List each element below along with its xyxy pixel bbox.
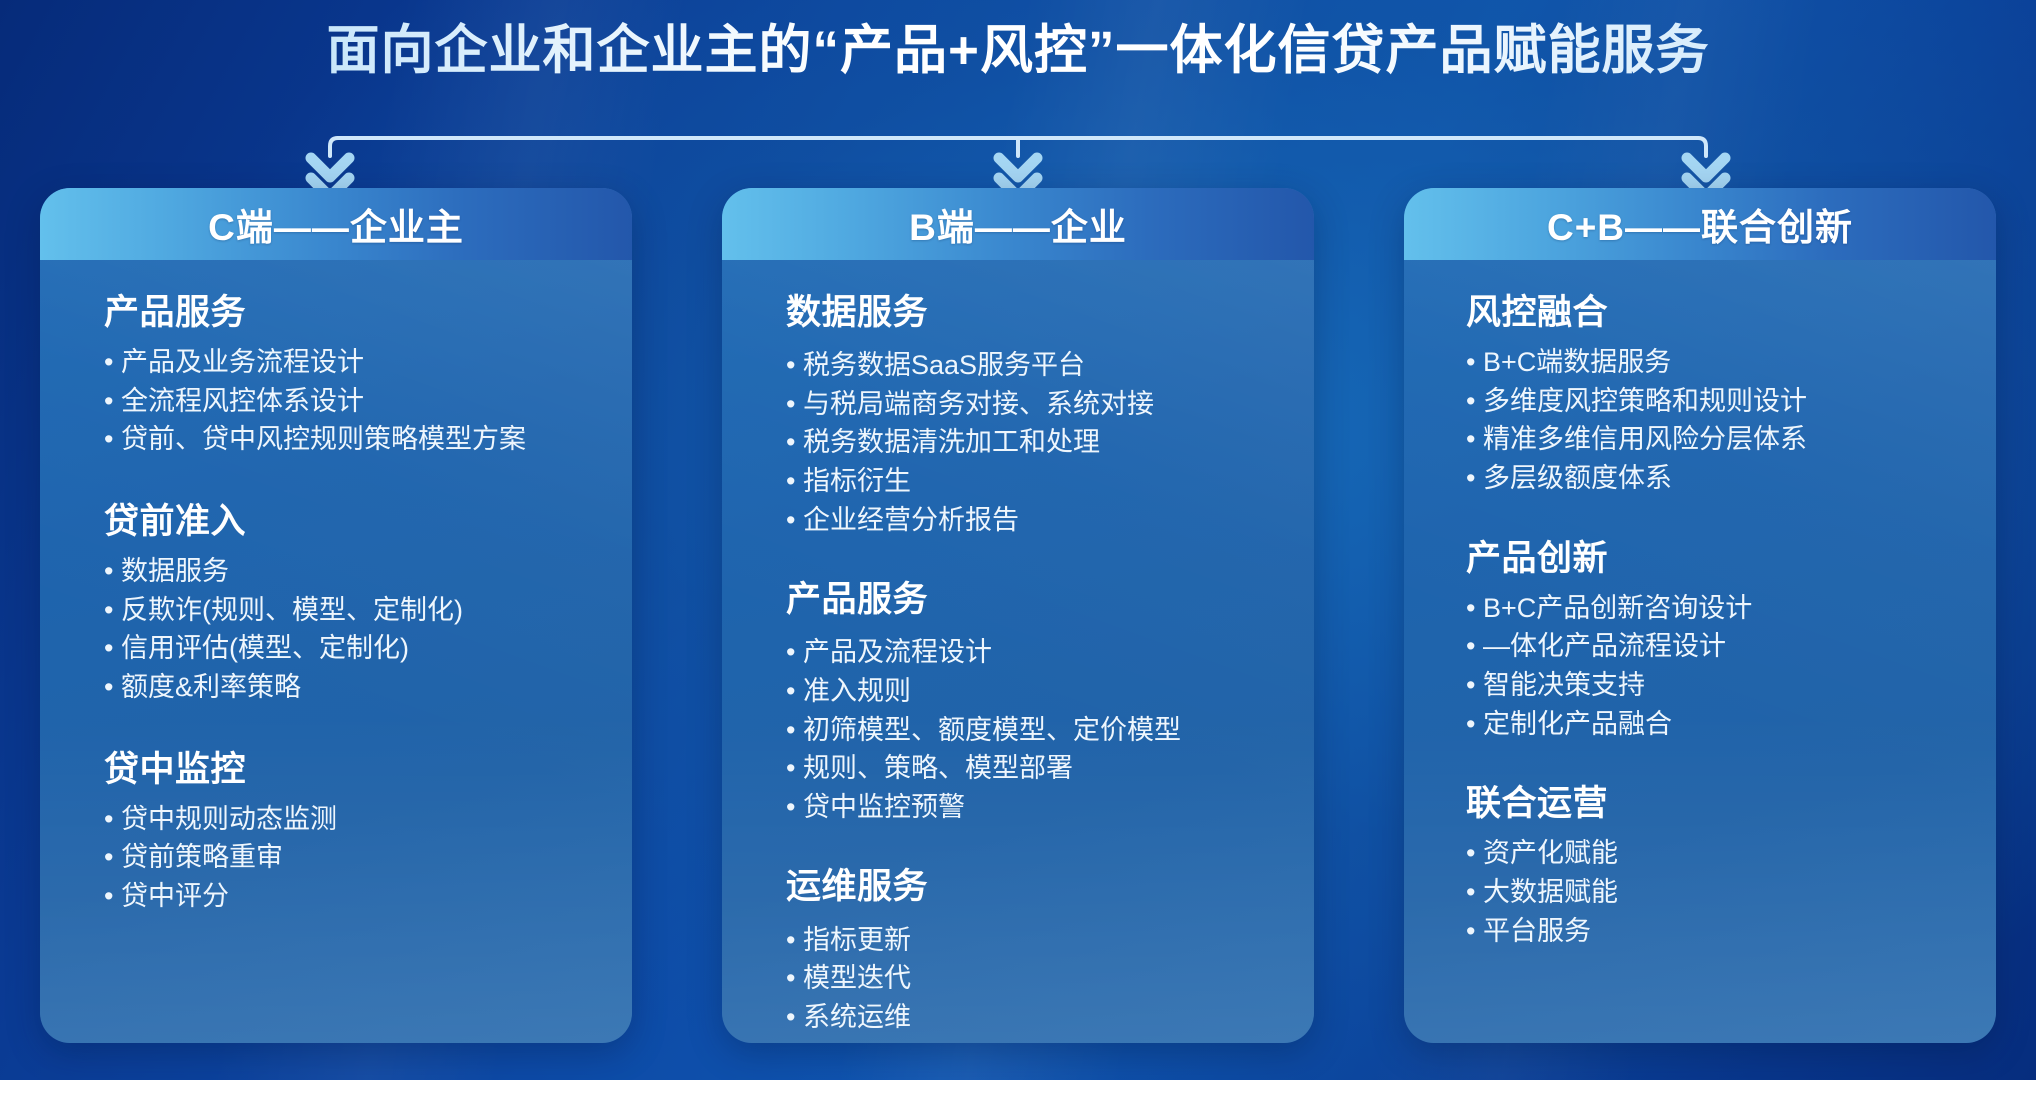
- section-title: 贷前准入: [104, 499, 588, 545]
- list-item: 与税局端商务对接、系统对接: [786, 385, 1270, 424]
- list-item: 定制化产品融合: [1466, 705, 1952, 744]
- list-item: 贷前策略重审: [104, 838, 588, 877]
- list-item: 系统运维: [786, 998, 1270, 1037]
- list-item: 贷中规则动态监测: [104, 800, 588, 839]
- bullet-list: B+C产品创新咨询设计 —体化产品流程设计 智能决策支持 定制化产品融合: [1466, 589, 1952, 743]
- section-block: 运维服务 指标更新 模型迭代 系统运维: [786, 864, 1270, 1036]
- list-item: 反欺诈(规则、模型、定制化): [104, 591, 588, 630]
- list-item: 模型迭代: [786, 959, 1270, 998]
- list-item: 智能决策支持: [1466, 666, 1952, 705]
- page-title: 面向企业和企业主的“产品+风控”一体化信贷产品赋能服务: [0, 18, 2036, 84]
- list-item: 贷中评分: [104, 877, 588, 916]
- column-header-cb-joint: C+B——联合创新: [1404, 188, 1996, 260]
- section-block: 产品创新 B+C产品创新咨询设计 —体化产品流程设计 智能决策支持 定制化产品融…: [1466, 536, 1952, 744]
- section-title: 产品服务: [786, 577, 1270, 623]
- list-item: 指标衍生: [786, 462, 1270, 501]
- section-title: 风控融合: [1466, 290, 1952, 336]
- column-card-cb-joint[interactable]: C+B——联合创新 风控融合 B+C端数据服务 多维度风控策略和规则设计 精准多…: [1404, 188, 1996, 1043]
- section-block: 贷前准入 数据服务 反欺诈(规则、模型、定制化) 信用评估(模型、定制化) 额度…: [104, 499, 588, 707]
- list-item: 大数据赋能: [1466, 873, 1952, 912]
- list-item: 企业经营分析报告: [786, 501, 1270, 540]
- section-block: 产品服务 产品及流程设计 准入规则 初筛模型、额度模型、定价模型 规则、策略、模…: [786, 577, 1270, 826]
- column-body-b-end: 数据服务 税务数据SaaS服务平台 与税局端商务对接、系统对接 税务数据清洗加工…: [722, 260, 1314, 1043]
- column-header-label: C+B——联合创新: [1547, 197, 1853, 251]
- column-header-label: C端——企业主: [208, 197, 464, 251]
- section-block: 贷中监控 贷中规则动态监测 贷前策略重审 贷中评分: [104, 747, 588, 916]
- list-item: 平台服务: [1466, 912, 1952, 951]
- list-item: 准入规则: [786, 672, 1270, 711]
- columns-row: C端——企业主 产品服务 产品及业务流程设计 全流程风控体系设计 贷前、贷中风控…: [0, 188, 2036, 1043]
- list-item: B+C端数据服务: [1466, 343, 1952, 382]
- list-item: —体化产品流程设计: [1466, 627, 1952, 666]
- bullet-list: 资产化赋能 大数据赋能 平台服务: [1466, 834, 1952, 950]
- column-header-c-end: C端——企业主: [40, 188, 632, 260]
- column-header-label: B端——企业: [909, 197, 1127, 251]
- section-block: 产品服务 产品及业务流程设计 全流程风控体系设计 贷前、贷中风控规则策略模型方案: [104, 290, 588, 459]
- section-title: 贷中监控: [104, 747, 588, 793]
- list-item: 多维度风控策略和规则设计: [1466, 382, 1952, 421]
- slide-canvas: 面向企业和企业主的“产品+风控”一体化信贷产品赋能服务 C端——企业主: [0, 0, 2036, 1080]
- list-item: 产品及流程设计: [786, 633, 1270, 672]
- list-item: 规则、策略、模型部署: [786, 749, 1270, 788]
- bullet-list: 数据服务 反欺诈(规则、模型、定制化) 信用评估(模型、定制化) 额度&利率策略: [104, 552, 588, 706]
- section-title: 产品服务: [104, 290, 588, 336]
- list-item: 指标更新: [786, 921, 1270, 960]
- bullet-list: 贷中规则动态监测 贷前策略重审 贷中评分: [104, 800, 588, 916]
- list-item: 税务数据SaaS服务平台: [786, 346, 1270, 385]
- column-card-b-end[interactable]: B端——企业 数据服务 税务数据SaaS服务平台 与税局端商务对接、系统对接 税…: [722, 188, 1314, 1043]
- column-body-cb-joint: 风控融合 B+C端数据服务 多维度风控策略和规则设计 精准多维信用风险分层体系 …: [1404, 260, 1996, 1043]
- bullet-list: B+C端数据服务 多维度风控策略和规则设计 精准多维信用风险分层体系 多层级额度…: [1466, 343, 1952, 497]
- section-block: 联合运营 资产化赋能 大数据赋能 平台服务: [1466, 781, 1952, 950]
- list-item: 贷中监控预警: [786, 788, 1270, 827]
- column-header-b-end: B端——企业: [722, 188, 1314, 260]
- section-title: 数据服务: [786, 290, 1270, 336]
- list-item: 信用评估(模型、定制化): [104, 629, 588, 668]
- bullet-list: 指标更新 模型迭代 系统运维: [786, 921, 1270, 1037]
- section-title: 联合运营: [1466, 781, 1952, 827]
- section-block: 数据服务 税务数据SaaS服务平台 与税局端商务对接、系统对接 税务数据清洗加工…: [786, 290, 1270, 539]
- list-item: 全流程风控体系设计: [104, 382, 588, 421]
- list-item: 产品及业务流程设计: [104, 343, 588, 382]
- column-card-c-end[interactable]: C端——企业主 产品服务 产品及业务流程设计 全流程风控体系设计 贷前、贷中风控…: [40, 188, 632, 1043]
- list-item: 初筛模型、额度模型、定价模型: [786, 711, 1270, 750]
- bullet-list: 税务数据SaaS服务平台 与税局端商务对接、系统对接 税务数据清洗加工和处理 指…: [786, 346, 1270, 539]
- list-item: 贷前、贷中风控规则策略模型方案: [104, 420, 588, 459]
- list-item: 资产化赋能: [1466, 834, 1952, 873]
- section-title: 产品创新: [1466, 536, 1952, 582]
- section-block: 风控融合 B+C端数据服务 多维度风控策略和规则设计 精准多维信用风险分层体系 …: [1466, 290, 1952, 498]
- list-item: 税务数据清洗加工和处理: [786, 423, 1270, 462]
- list-item: B+C产品创新咨询设计: [1466, 589, 1952, 628]
- list-item: 数据服务: [104, 552, 588, 591]
- bullet-list: 产品及业务流程设计 全流程风控体系设计 贷前、贷中风控规则策略模型方案: [104, 343, 588, 459]
- section-title: 运维服务: [786, 864, 1270, 910]
- list-item: 多层级额度体系: [1466, 459, 1952, 498]
- list-item: 额度&利率策略: [104, 668, 588, 707]
- bullet-list: 产品及流程设计 准入规则 初筛模型、额度模型、定价模型 规则、策略、模型部署 贷…: [786, 633, 1270, 826]
- list-item: 精准多维信用风险分层体系: [1466, 420, 1952, 459]
- column-body-c-end: 产品服务 产品及业务流程设计 全流程风控体系设计 贷前、贷中风控规则策略模型方案…: [40, 260, 632, 1043]
